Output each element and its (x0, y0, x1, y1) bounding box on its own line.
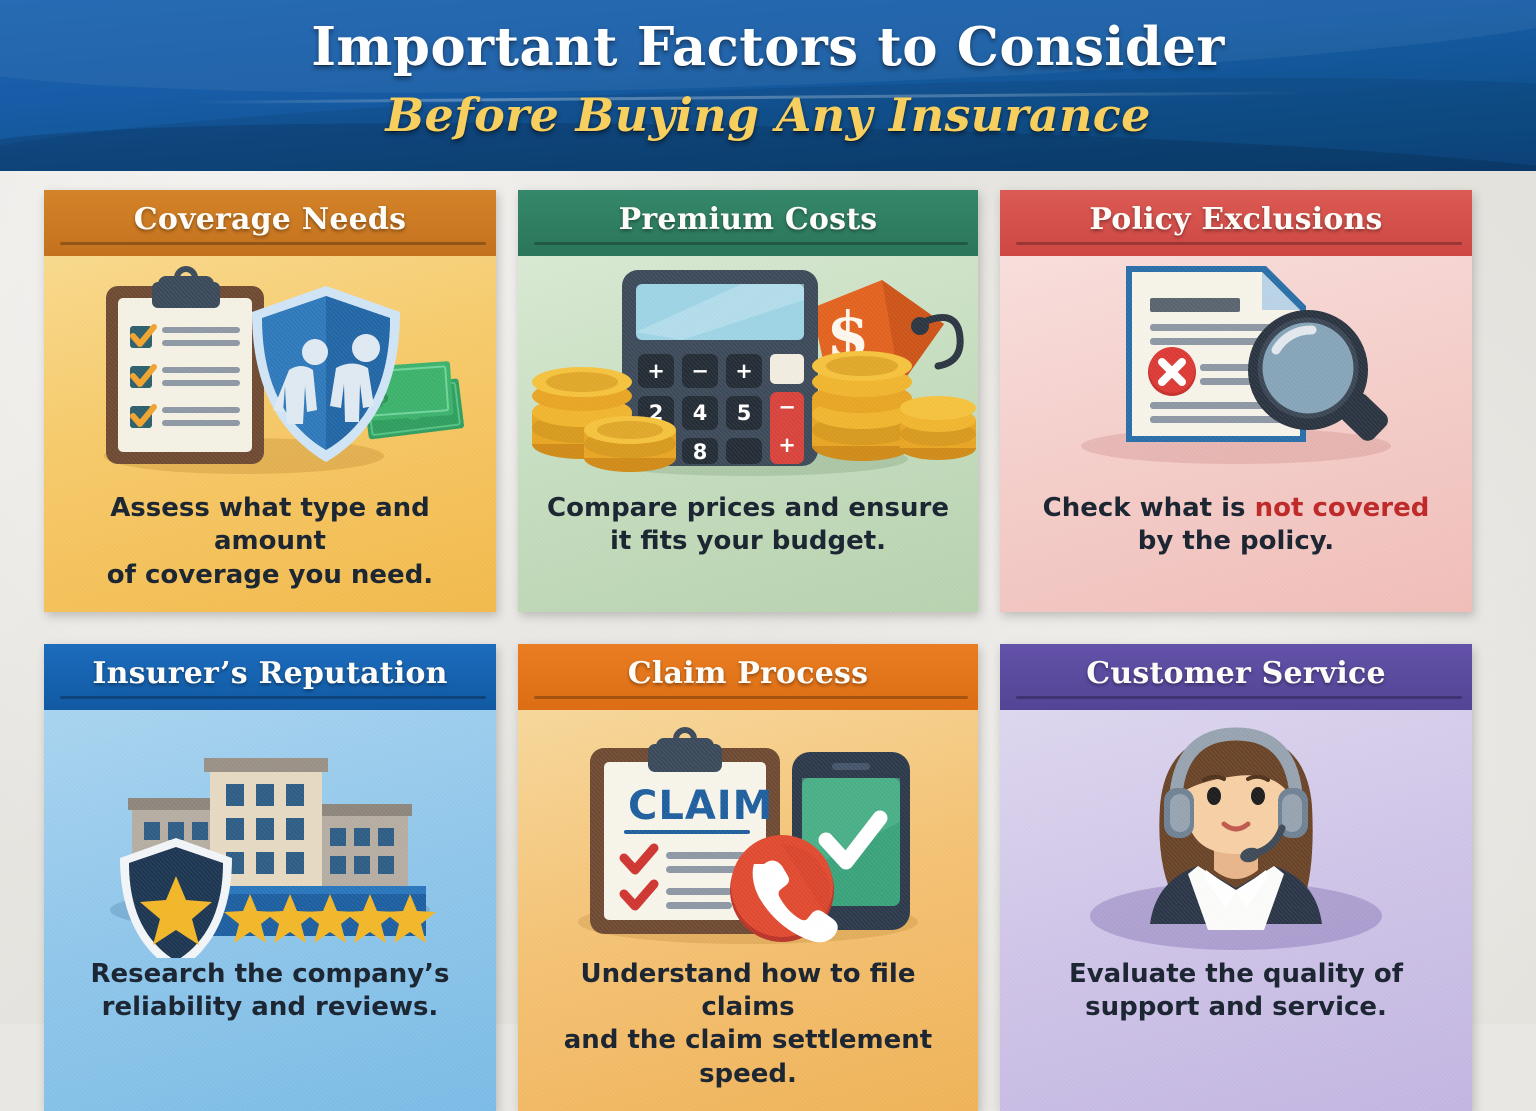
svg-text:+: + (647, 359, 665, 383)
red-x-icon (1148, 347, 1196, 396)
illustration-policy-exclusions (1000, 256, 1472, 492)
card-header-policy-exclusions: Policy Exclusions (1000, 190, 1472, 256)
card-claim-process[interactable]: Claim Process (518, 644, 978, 1111)
card-header-insurers-reputation: Insurer’s Reputation (44, 644, 496, 710)
caption-prefix: Check what is (1043, 493, 1255, 523)
header-banner: Important Factors to Consider Before Buy… (0, 0, 1536, 171)
card-caption-coverage-needs: Assess what type and amount of coverage … (44, 492, 496, 612)
svg-text:5: 5 (737, 401, 752, 425)
card-title: Customer Service (1086, 656, 1385, 691)
caption-line-1: Research the company’s (90, 959, 449, 989)
card-insurers-reputation[interactable]: Insurer’s Reputation (44, 644, 496, 1111)
coin-stack-icon (584, 416, 676, 472)
card-body-claim-process: CLAIM (518, 710, 978, 1111)
card-premium-costs[interactable]: Premium Costs $ (518, 190, 978, 612)
card-body-customer-service: Evaluate the quality of support and serv… (1000, 710, 1472, 1111)
headset-agent-icon (1150, 734, 1322, 930)
illustration-insurers-reputation (44, 710, 496, 958)
card-header-claim-process: Claim Process (518, 644, 978, 710)
page-subtitle: Before Buying Any Insurance (0, 88, 1536, 142)
card-title: Claim Process (628, 656, 868, 691)
card-caption-policy-exclusions: Check what is not covered by the policy. (1000, 492, 1472, 579)
card-body-insurers-reputation: Research the company’s reliability and r… (44, 710, 496, 1111)
card-caption-insurers-reputation: Research the company’s reliability and r… (44, 958, 496, 1045)
svg-text:+: + (735, 359, 753, 383)
caption-accent-not-covered: not covered (1255, 493, 1430, 523)
svg-text:4: 4 (693, 401, 708, 425)
card-title: Coverage Needs (134, 202, 406, 237)
coin-stack-icon (812, 351, 912, 461)
factors-grid: Coverage Needs $ (44, 190, 1492, 1111)
svg-text:−: − (778, 395, 796, 419)
card-body-premium-costs: $ (518, 256, 978, 612)
card-header-premium-costs: Premium Costs (518, 190, 978, 256)
caption-line-1: Assess what type and amount (110, 493, 430, 556)
svg-text:−: − (691, 359, 709, 383)
illustration-coverage-needs: $ (44, 256, 496, 492)
page-title: Important Factors to Consider (0, 16, 1536, 78)
card-body-coverage-needs: $ (44, 256, 496, 612)
caption-line-2: by the policy. (1138, 526, 1334, 556)
illustration-claim-process: CLAIM (518, 710, 978, 958)
shield-star-icon (120, 838, 232, 958)
card-caption-premium-costs: Compare prices and ensure it fits your b… (518, 492, 978, 579)
card-policy-exclusions[interactable]: Policy Exclusions (1000, 190, 1472, 612)
card-header-customer-service: Customer Service (1000, 644, 1472, 710)
clipboard-checklist-icon (106, 269, 264, 464)
caption-line-1: Understand how to file claims (581, 959, 916, 1022)
coin-stack-icon (900, 396, 976, 460)
card-customer-service[interactable]: Customer Service (1000, 644, 1472, 1111)
caption-line-1: Compare prices and ensure (547, 493, 949, 523)
svg-text:CLAIM: CLAIM (628, 783, 774, 829)
caption-line-2: of coverage you need. (107, 560, 433, 590)
illustration-customer-service (1000, 710, 1472, 958)
caption-line-2: reliability and reviews. (102, 992, 439, 1022)
caption-line-2: it fits your budget. (610, 526, 886, 556)
card-title: Insurer’s Reputation (92, 656, 447, 691)
card-caption-customer-service: Evaluate the quality of support and serv… (1000, 958, 1472, 1045)
illustration-premium-costs: $ (518, 256, 978, 492)
card-title: Premium Costs (619, 202, 878, 237)
caption-line-1: Evaluate the quality of (1069, 959, 1403, 989)
card-header-coverage-needs: Coverage Needs (44, 190, 496, 256)
caption-line-2: and the claim settlement speed. (564, 1025, 932, 1088)
svg-text:8: 8 (693, 440, 708, 464)
caption-line-2: support and service. (1085, 992, 1387, 1022)
svg-text:+: + (778, 433, 796, 457)
card-caption-claim-process: Understand how to file claims and the cl… (518, 958, 978, 1111)
card-coverage-needs[interactable]: Coverage Needs $ (44, 190, 496, 612)
card-title: Policy Exclusions (1089, 202, 1382, 237)
card-body-policy-exclusions: Check what is not covered by the policy. (1000, 256, 1472, 612)
